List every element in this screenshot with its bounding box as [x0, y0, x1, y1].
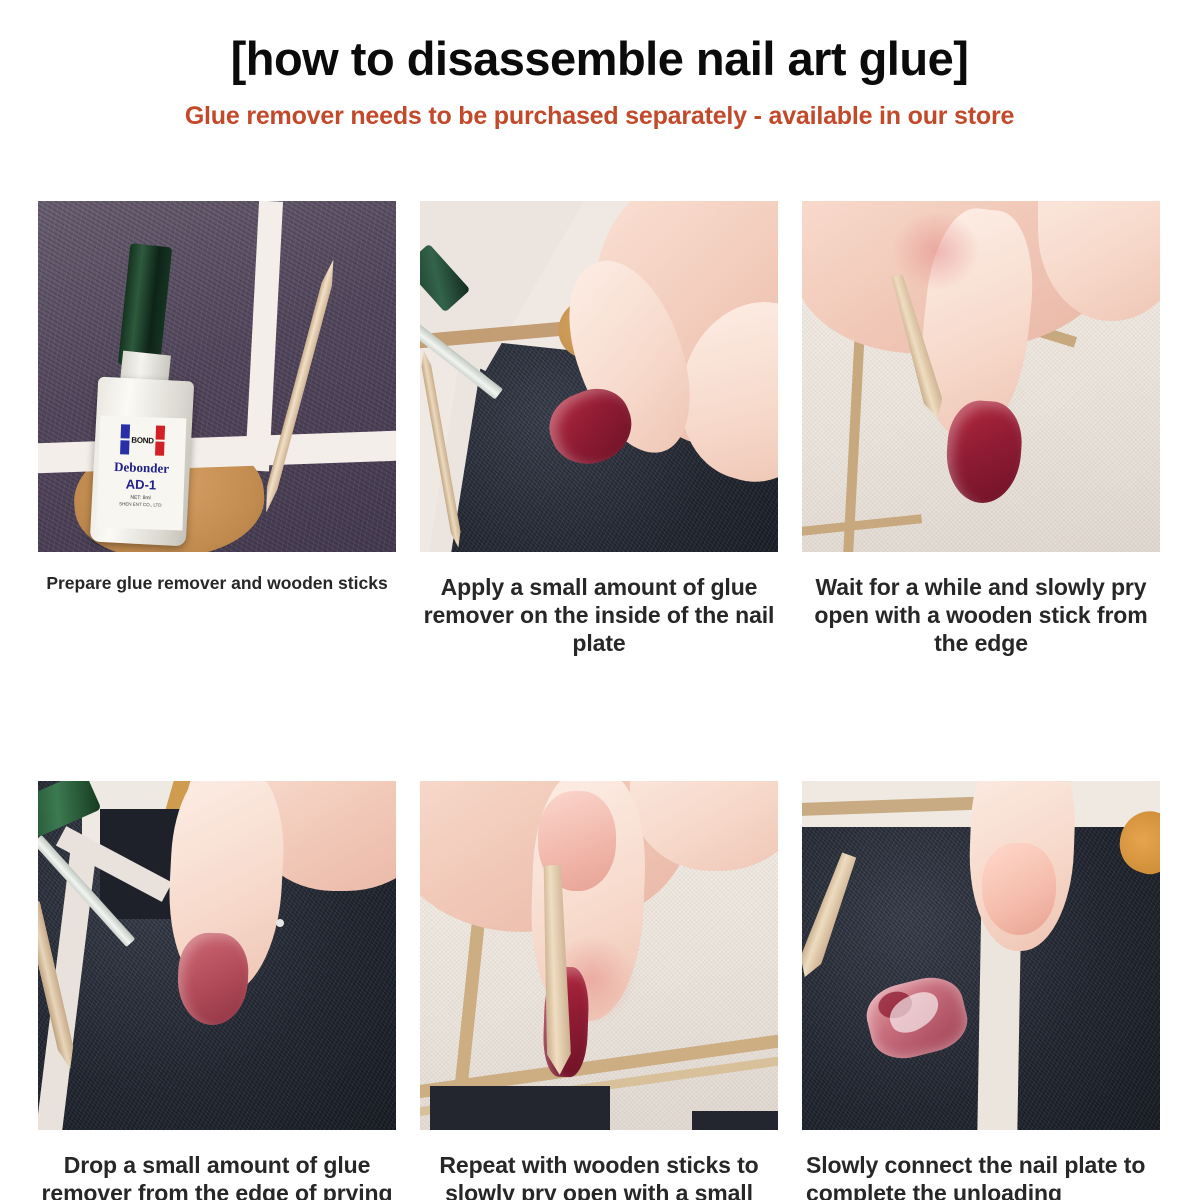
dark-patch-right: [692, 1111, 778, 1130]
glue-remover-bottle: BOND Debonder AD-1 NET: 8ml SHEN ENT CO.…: [90, 377, 195, 547]
page-subtitle: Glue remover needs to be purchased separ…: [0, 102, 1199, 131]
step-card-6: Slowly connect the nail plate to complet…: [802, 781, 1160, 1200]
step-photo-4: [38, 781, 396, 1130]
page-title: [how to disassemble nail art glue]: [0, 34, 1199, 83]
knuckle-shading: [892, 211, 980, 291]
step-photo-2: [420, 201, 778, 552]
step-photo-3: [802, 201, 1160, 552]
step-photo-1: BOND Debonder AD-1 NET: 8ml SHEN ENT CO.…: [38, 201, 396, 552]
step-caption-5: Repeat with wooden sticks to slowly pry …: [420, 1151, 778, 1200]
step-caption-3: Wait for a while and slowly pry open wit…: [802, 573, 1160, 657]
header: [how to disassemble nail art glue] Glue …: [0, 0, 1199, 131]
step-card-4: Drop a small amount of glue remover from…: [38, 781, 396, 1200]
bottle-label: BOND Debonder AD-1 NET: 8ml SHEN ENT CO.…: [96, 416, 186, 531]
step-caption-1: Prepare glue remover and wooden sticks: [38, 573, 396, 594]
brand-name: BOND: [131, 435, 154, 445]
natural-nail: [982, 843, 1056, 935]
step-photo-6: [802, 781, 1160, 1130]
product-name: Debonder: [98, 458, 185, 477]
dark-patch-left: [430, 1086, 610, 1130]
nail-glue-removal-infographic: [how to disassemble nail art glue] Glue …: [0, 0, 1199, 1200]
step-caption-2: Apply a small amount of glue remover on …: [420, 573, 778, 657]
step-card-2: Apply a small amount of glue remover on …: [420, 201, 778, 657]
step-photo-5: [420, 781, 778, 1130]
product-model: AD-1: [98, 475, 184, 493]
step-card-1: BOND Debonder AD-1 NET: 8ml SHEN ENT CO.…: [38, 201, 396, 657]
step-card-5: Repeat with wooden sticks to slowly pry …: [420, 781, 778, 1200]
step-card-3: Wait for a while and slowly pry open wit…: [802, 201, 1160, 657]
steps-grid: BOND Debonder AD-1 NET: 8ml SHEN ENT CO.…: [38, 201, 1161, 1200]
step-caption-4: Drop a small amount of glue remover from…: [38, 1151, 396, 1200]
brand-logo-icon: BOND: [99, 424, 186, 457]
step-caption-6: Slowly connect the nail plate to complet…: [802, 1151, 1160, 1200]
